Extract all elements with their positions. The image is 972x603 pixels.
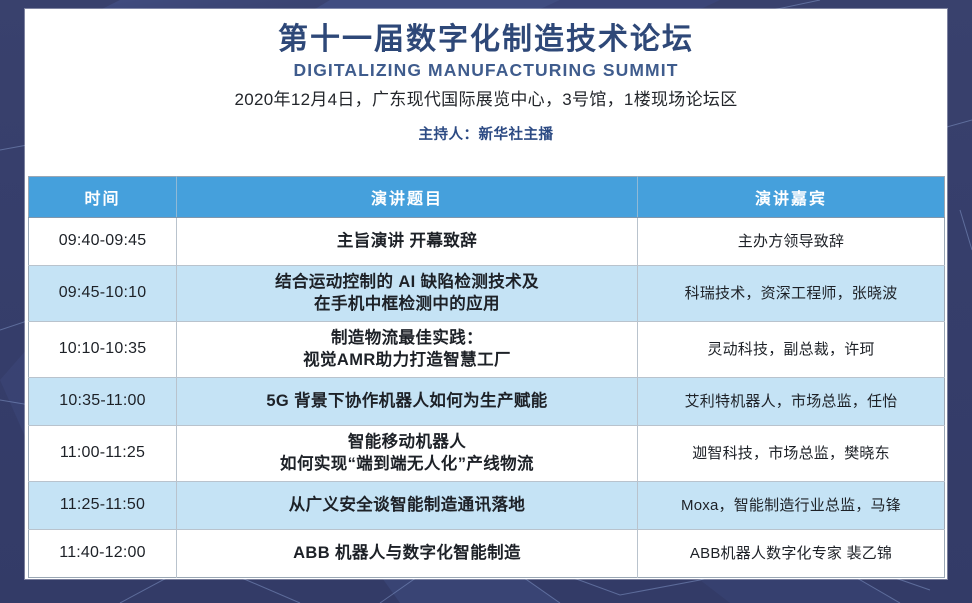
- topic-line-1: 结合运动控制的 AI 缺陷检测技术及: [183, 272, 631, 293]
- agenda-table-head: 时间 演讲题目 演讲嘉宾: [29, 177, 945, 218]
- cell-time: 11:40-12:00: [29, 530, 177, 578]
- cell-guest: 科瑞技术，资深工程师，张晓波: [638, 266, 945, 322]
- page-title-chinese: 第十一届数字化制造技术论坛: [25, 23, 947, 58]
- agenda-table-body: 09:40-09:45 主旨演讲 开幕致辞 主办方领导致辞 09:45-10:1…: [29, 218, 945, 578]
- cell-time: 10:35-11:00: [29, 378, 177, 426]
- cell-topic: 5G 背景下协作机器人如何为生产赋能: [177, 378, 638, 426]
- table-row: 09:45-10:10 结合运动控制的 AI 缺陷检测技术及 在手机中框检测中的…: [29, 266, 945, 322]
- topic-line-1: 制造物流最佳实践：: [183, 328, 631, 349]
- cell-topic: 结合运动控制的 AI 缺陷检测技术及 在手机中框检测中的应用: [177, 266, 638, 322]
- agenda-table-wrapper: 时间 演讲题目 演讲嘉宾 09:40-09:45 主旨演讲 开幕致辞 主办方领导…: [28, 176, 944, 578]
- event-venue-line: 2020年12月4日，广东现代国际展览中心，3号馆，1楼现场论坛区: [25, 90, 947, 110]
- cell-guest: 主办方领导致辞: [638, 218, 945, 266]
- table-row: 09:40-09:45 主旨演讲 开幕致辞 主办方领导致辞: [29, 218, 945, 266]
- topic-line-1: 从广义安全谈智能制造通讯落地: [183, 495, 631, 516]
- poster-panel: 第十一届数字化制造技术论坛 DIGITALIZING MANUFACTURING…: [25, 9, 947, 579]
- topic-line-1: 5G 背景下协作机器人如何为生产赋能: [183, 391, 631, 412]
- table-header-row: 时间 演讲题目 演讲嘉宾: [29, 177, 945, 218]
- cell-guest: 迦智科技，市场总监，樊晓东: [638, 426, 945, 482]
- cell-guest: ABB机器人数字化专家 裴乙锦: [638, 530, 945, 578]
- topic-line-2: 在手机中框检测中的应用: [183, 294, 631, 315]
- topic-line-1: 主旨演讲 开幕致辞: [183, 231, 631, 252]
- topic-line-1: 智能移动机器人: [183, 432, 631, 453]
- cell-time: 11:00-11:25: [29, 426, 177, 482]
- cell-time: 10:10-10:35: [29, 322, 177, 378]
- topic-line-2: 如何实现“端到端无人化”产线物流: [183, 454, 631, 475]
- cell-topic: 制造物流最佳实践： 视觉AMR助力打造智慧工厂: [177, 322, 638, 378]
- table-row: 11:25-11:50 从广义安全谈智能制造通讯落地 Moxa，智能制造行业总监…: [29, 482, 945, 530]
- cell-time: 11:25-11:50: [29, 482, 177, 530]
- cell-topic: 智能移动机器人 如何实现“端到端无人化”产线物流: [177, 426, 638, 482]
- event-host-line: 主持人：新华社主播: [25, 123, 947, 144]
- agenda-table: 时间 演讲题目 演讲嘉宾 09:40-09:45 主旨演讲 开幕致辞 主办方领导…: [28, 176, 945, 578]
- cell-topic: ABB 机器人与数字化智能制造: [177, 530, 638, 578]
- table-row: 11:00-11:25 智能移动机器人 如何实现“端到端无人化”产线物流 迦智科…: [29, 426, 945, 482]
- column-header-guest: 演讲嘉宾: [638, 177, 945, 218]
- cell-topic: 主旨演讲 开幕致辞: [177, 218, 638, 266]
- table-row: 10:35-11:00 5G 背景下协作机器人如何为生产赋能 艾利特机器人，市场…: [29, 378, 945, 426]
- cell-time: 09:40-09:45: [29, 218, 177, 266]
- page-title-english: DIGITALIZING MANUFACTURING SUMMIT: [25, 60, 947, 80]
- cell-topic: 从广义安全谈智能制造通讯落地: [177, 482, 638, 530]
- topic-line-2: 视觉AMR助力打造智慧工厂: [183, 350, 631, 371]
- poster-header: 第十一届数字化制造技术论坛 DIGITALIZING MANUFACTURING…: [25, 9, 947, 158]
- cell-time: 09:45-10:10: [29, 266, 177, 322]
- table-row: 11:40-12:00 ABB 机器人与数字化智能制造 ABB机器人数字化专家 …: [29, 530, 945, 578]
- column-header-time: 时间: [29, 177, 177, 218]
- cell-guest: Moxa，智能制造行业总监，马锋: [638, 482, 945, 530]
- cell-guest: 艾利特机器人，市场总监，任怡: [638, 378, 945, 426]
- column-header-topic: 演讲题目: [177, 177, 638, 218]
- cell-guest: 灵动科技，副总裁，许珂: [638, 322, 945, 378]
- table-row: 10:10-10:35 制造物流最佳实践： 视觉AMR助力打造智慧工厂 灵动科技…: [29, 322, 945, 378]
- topic-line-1: ABB 机器人与数字化智能制造: [183, 543, 631, 564]
